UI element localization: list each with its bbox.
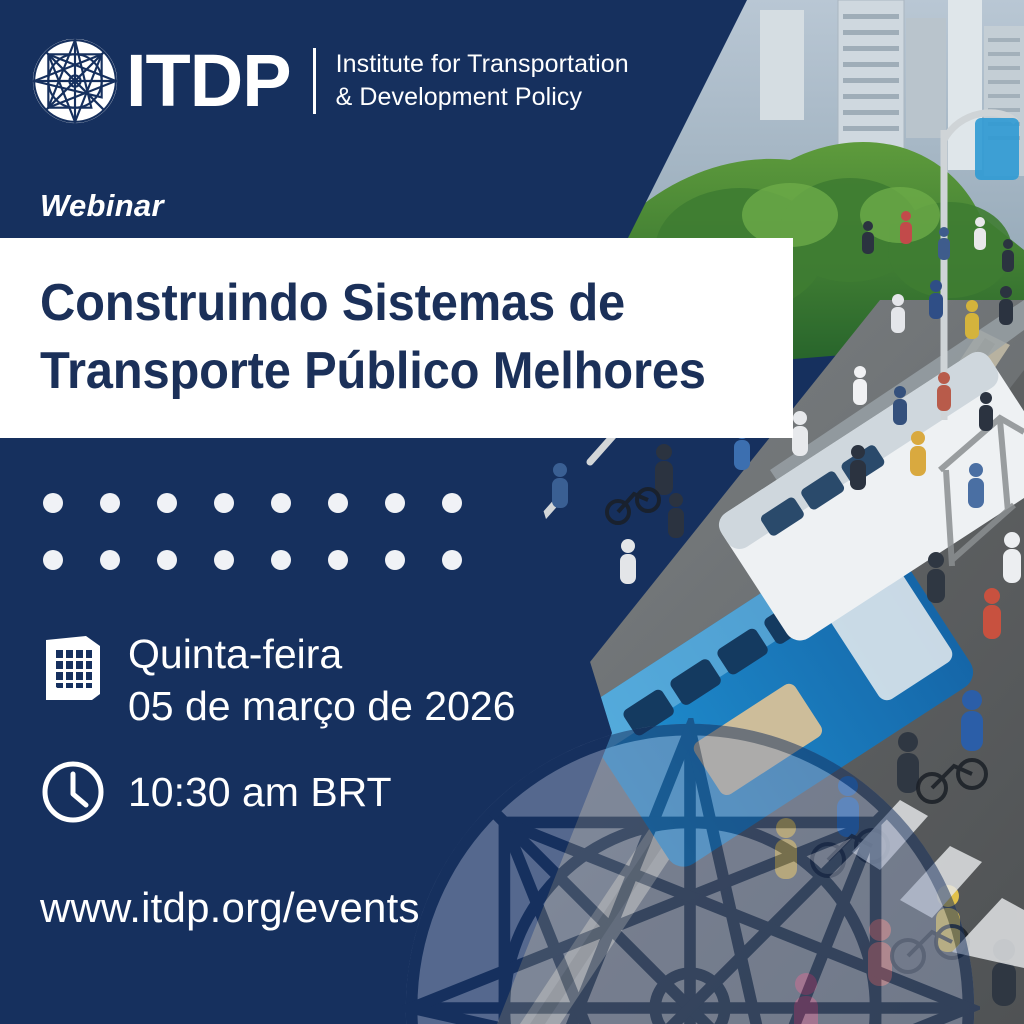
dot: [271, 493, 291, 513]
dot-row: [43, 493, 462, 513]
dot: [43, 550, 63, 570]
clock-icon: [40, 755, 112, 829]
title-band: Construindo Sistemas de Transporte Públi…: [0, 238, 793, 438]
itdp-logo: ITDP Institute for Transportation & Deve…: [32, 38, 629, 124]
event-time-row: 10:30 am BRT: [40, 755, 516, 829]
dot-pattern: [43, 493, 462, 570]
page-title-line-2: Transporte Público Melhores: [40, 338, 731, 406]
dot: [157, 550, 177, 570]
event-details: Quinta-feira 05 de março de 2026 10:30 a…: [40, 626, 516, 829]
event-date-row: Quinta-feira 05 de março de 2026: [40, 626, 516, 733]
dot: [214, 493, 234, 513]
dot: [157, 493, 177, 513]
itdp-compass-star-icon: [32, 38, 118, 124]
dot-row: [43, 550, 462, 570]
dot: [214, 550, 234, 570]
itdp-tagline: Institute for Transportation & Developme…: [336, 48, 629, 114]
page-title-line-1: Construindo Sistemas de: [40, 270, 731, 338]
dot: [385, 550, 405, 570]
dot: [328, 550, 348, 570]
webinar-promo-card: ITDP Institute for Transportation & Deve…: [0, 0, 1024, 1024]
itdp-wordmark: ITDP: [126, 44, 291, 118]
dot: [328, 493, 348, 513]
dot: [442, 550, 462, 570]
dot: [43, 493, 63, 513]
event-time-text: 10:30 am BRT: [112, 766, 392, 818]
events-url[interactable]: www.itdp.org/events: [40, 884, 420, 932]
event-date-text: Quinta-feira 05 de março de 2026: [112, 626, 516, 733]
logo-divider: [313, 48, 316, 114]
dot: [100, 493, 120, 513]
webinar-kicker: Webinar: [40, 188, 164, 224]
calendar-icon: [40, 626, 112, 710]
dot: [271, 550, 291, 570]
dot: [442, 493, 462, 513]
dot: [385, 493, 405, 513]
dot: [100, 550, 120, 570]
